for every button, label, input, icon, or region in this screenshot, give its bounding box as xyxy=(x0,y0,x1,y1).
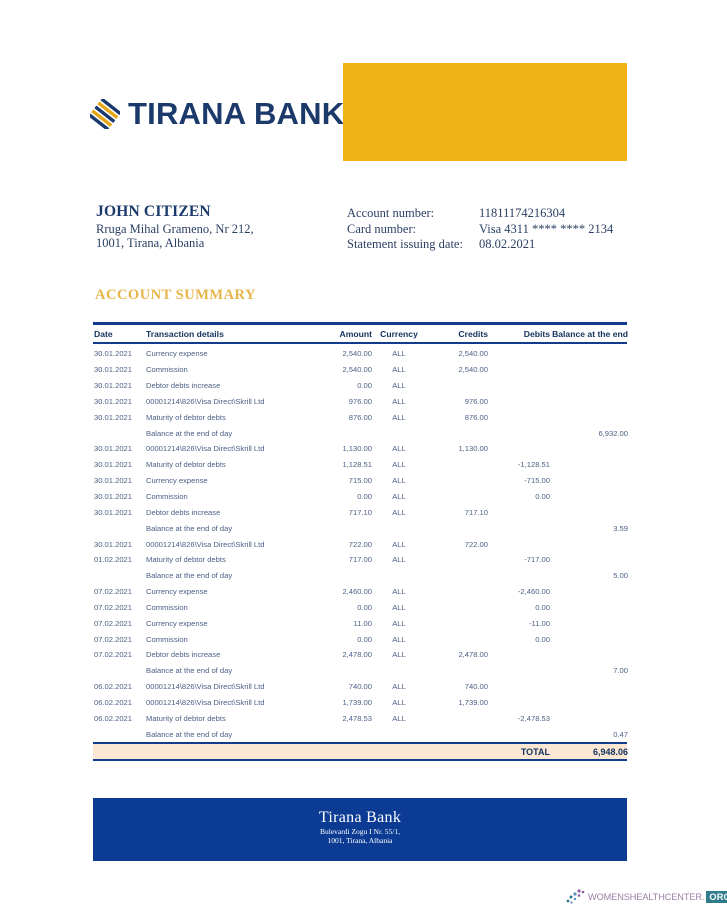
cell-amount: 717.00 xyxy=(304,555,372,564)
cell-details: 00001214\826\Visa Direct\Skrill Ltd xyxy=(146,397,304,406)
cell-date: 30.01.2021 xyxy=(93,476,146,485)
cell-currency: ALL xyxy=(372,714,426,723)
table-row: 30.01.2021Commission2,540.00ALL2,540.00 xyxy=(93,362,627,378)
cell-currency: ALL xyxy=(372,381,426,390)
cell-date: 07.02.2021 xyxy=(93,635,146,644)
cell-details: Currency expense xyxy=(146,619,304,628)
header-currency: Currency xyxy=(372,329,426,339)
card-number-row: Card number: Visa 4311 **** **** 2134 xyxy=(347,222,647,238)
header-gold-banner xyxy=(343,63,627,161)
cell-currency: ALL xyxy=(372,555,426,564)
cell-date: 06.02.2021 xyxy=(93,714,146,723)
cell-date: 07.02.2021 xyxy=(93,650,146,659)
cell-credits: 717.10 xyxy=(426,508,488,517)
cell-currency: ALL xyxy=(372,365,426,374)
header-debits: Debits xyxy=(488,329,550,339)
account-number-row: Account number: 11811174216304 xyxy=(347,206,647,222)
cell-amount: 0.00 xyxy=(304,492,372,501)
cell-currency: ALL xyxy=(372,397,426,406)
header-amount: Amount xyxy=(304,329,372,339)
cell-amount: 11.00 xyxy=(304,619,372,628)
cell-date: 30.01.2021 xyxy=(93,492,146,501)
cell-details: Debtor debts increase xyxy=(146,650,304,659)
table-total-rule-bottom xyxy=(93,759,627,761)
cell-amount: 2,540.00 xyxy=(304,349,372,358)
cell-debits: -11.00 xyxy=(488,619,550,628)
cell-details: Balance at the end of day xyxy=(146,429,304,438)
bank-logo-text: TIRANA BANK xyxy=(128,98,344,129)
cell-details: Commission xyxy=(146,603,304,612)
cell-currency: ALL xyxy=(372,492,426,501)
account-summary-title: ACCOUNT SUMMARY xyxy=(95,287,256,304)
cell-details: Maturity of debtor debts xyxy=(146,714,304,723)
cell-amount: 722.00 xyxy=(304,540,372,549)
customer-address-line-1: Rruga Mihal Grameno, Nr 212, xyxy=(96,222,346,236)
cell-details: Debtor debts increase xyxy=(146,508,304,517)
table-row: 07.02.2021Debtor debts increase2,478.00A… xyxy=(93,647,627,663)
watermark: WOMENSHEALTHCENTER. ORG xyxy=(566,884,721,910)
page-header: TIRANA BANK xyxy=(0,0,727,190)
cell-details: Debtor debts increase xyxy=(146,381,304,390)
table-total-row: TOTAL 6,948.06 xyxy=(93,744,627,759)
account-details-block: Account number: 11811174216304 Card numb… xyxy=(347,206,647,253)
balance-row: Balance at the end of day5.00 xyxy=(93,568,627,584)
customer-address-line-2: 1001, Tirana, Albania xyxy=(96,236,346,250)
cell-credits: 2,478.00 xyxy=(426,650,488,659)
cell-balance: 6,932.00 xyxy=(550,429,628,438)
cell-date: 30.01.2021 xyxy=(93,349,146,358)
cell-debits: 0.00 xyxy=(488,492,550,501)
cell-amount: 2,478.53 xyxy=(304,714,372,723)
statement-page: TIRANA BANK JOHN CITIZEN Rruga Mihal Gra… xyxy=(0,0,727,917)
cell-credits: 2,540.00 xyxy=(426,365,488,374)
cell-details: Maturity of debtor debts xyxy=(146,460,304,469)
cell-debits: 0.00 xyxy=(488,635,550,644)
cell-amount: 1,739.00 xyxy=(304,698,372,707)
cell-date: 30.01.2021 xyxy=(93,460,146,469)
total-label: TOTAL xyxy=(488,747,550,757)
table-row: 30.01.2021Maturity of debtor debts1,128.… xyxy=(93,457,627,473)
table-row: 30.01.2021Debtor debts increase717.10ALL… xyxy=(93,504,627,520)
table-row: 30.01.202100001214\826\Visa Direct\Skril… xyxy=(93,394,627,410)
cell-currency: ALL xyxy=(372,476,426,485)
account-number-value: 11811174216304 xyxy=(479,206,565,222)
cell-amount: 2,460.00 xyxy=(304,587,372,596)
table-row: 07.02.2021Commission0.00ALL0.00 xyxy=(93,600,627,616)
cell-date: 30.01.2021 xyxy=(93,381,146,390)
cell-credits: 976.00 xyxy=(426,397,488,406)
table-row: 30.01.2021Maturity of debtor debts876.00… xyxy=(93,409,627,425)
cell-details: Maturity of debtor debts xyxy=(146,413,304,422)
cell-amount: 2,478.00 xyxy=(304,650,372,659)
total-value: 6,948.06 xyxy=(550,747,628,757)
cell-debits: -2,460.00 xyxy=(488,587,550,596)
cell-details: Currency expense xyxy=(146,349,304,358)
table-row: 07.02.2021Currency expense11.00ALL-11.00 xyxy=(93,615,627,631)
balance-row: Balance at the end of day0.47 xyxy=(93,726,627,742)
cell-date: 06.02.2021 xyxy=(93,698,146,707)
cell-credits: 1,130.00 xyxy=(426,444,488,453)
cell-date: 30.01.2021 xyxy=(93,508,146,517)
table-row: 30.01.2021Debtor debts increase0.00ALL xyxy=(93,378,627,394)
header-balance: Balance at the end xyxy=(550,329,628,339)
table-row: 06.02.2021Maturity of debtor debts2,478.… xyxy=(93,710,627,726)
cell-credits: 1,739.00 xyxy=(426,698,488,707)
cell-credits: 876.00 xyxy=(426,413,488,422)
card-number-value: Visa 4311 **** **** 2134 xyxy=(479,222,613,238)
cell-credits: 740.00 xyxy=(426,682,488,691)
footer-bank-name: Tirana Bank xyxy=(93,798,627,827)
watermark-badge: ORG xyxy=(706,891,727,903)
cell-currency: ALL xyxy=(372,508,426,517)
cell-debits: -717.00 xyxy=(488,555,550,564)
table-row: 07.02.2021Commission0.00ALL0.00 xyxy=(93,631,627,647)
cell-currency: ALL xyxy=(372,349,426,358)
cell-details: 00001214\826\Visa Direct\Skrill Ltd xyxy=(146,444,304,453)
cell-debits: -2,478.53 xyxy=(488,714,550,723)
cell-currency: ALL xyxy=(372,619,426,628)
cell-amount: 976.00 xyxy=(304,397,372,406)
cell-amount: 1,130.00 xyxy=(304,444,372,453)
cell-details: 00001214\826\Visa Direct\Skrill Ltd xyxy=(146,682,304,691)
cell-balance: 5.00 xyxy=(550,571,628,580)
balance-row: Balance at the end of day3.59 xyxy=(93,520,627,536)
customer-address-block: JOHN CITIZEN Rruga Mihal Grameno, Nr 212… xyxy=(96,203,346,250)
table-header-row: Date Transaction details Amount Currency… xyxy=(93,325,627,342)
cell-details: 00001214\826\Visa Direct\Skrill Ltd xyxy=(146,698,304,707)
footer-address-line-2: 1001, Tirana, Albania xyxy=(93,836,627,845)
cell-date: 30.01.2021 xyxy=(93,365,146,374)
cell-amount: 0.00 xyxy=(304,603,372,612)
header-credits: Credits xyxy=(426,329,488,339)
cell-currency: ALL xyxy=(372,540,426,549)
card-number-label: Card number: xyxy=(347,222,479,238)
cell-currency: ALL xyxy=(372,682,426,691)
footer-address-line-1: Bulevardi Zogu I Nr. 55/1, xyxy=(93,827,627,836)
table-row: 30.01.2021Currency expense2,540.00ALL2,5… xyxy=(93,346,627,362)
table-row: 06.02.202100001214\826\Visa Direct\Skril… xyxy=(93,695,627,711)
cell-currency: ALL xyxy=(372,413,426,422)
bank-logo: TIRANA BANK xyxy=(90,98,344,129)
header-date: Date xyxy=(93,329,146,339)
balance-row: Balance at the end of day6,932.00 xyxy=(93,425,627,441)
cell-details: Commission xyxy=(146,492,304,501)
watermark-dots-icon xyxy=(566,888,588,906)
cell-details: Currency expense xyxy=(146,587,304,596)
page-footer: Tirana Bank Bulevardi Zogu I Nr. 55/1, 1… xyxy=(93,798,627,861)
cell-currency: ALL xyxy=(372,650,426,659)
cell-date: 30.01.2021 xyxy=(93,444,146,453)
cell-amount: 0.00 xyxy=(304,381,372,390)
cell-currency: ALL xyxy=(372,460,426,469)
table-body: 30.01.2021Currency expense2,540.00ALL2,5… xyxy=(93,344,627,742)
cell-currency: ALL xyxy=(372,635,426,644)
cell-balance: 3.59 xyxy=(550,524,628,533)
cell-amount: 876.00 xyxy=(304,413,372,422)
cell-details: Commission xyxy=(146,365,304,374)
cell-date: 30.01.2021 xyxy=(93,397,146,406)
cell-details: Balance at the end of day xyxy=(146,666,304,675)
table-row: 01.02.2021Maturity of debtor debts717.00… xyxy=(93,552,627,568)
cell-debits: 0.00 xyxy=(488,603,550,612)
cell-currency: ALL xyxy=(372,698,426,707)
cell-date: 07.02.2021 xyxy=(93,587,146,596)
cell-details: Balance at the end of day xyxy=(146,524,304,533)
transactions-table: Date Transaction details Amount Currency… xyxy=(93,322,627,761)
watermark-text: WOMENSHEALTHCENTER. xyxy=(588,892,704,902)
cell-details: Currency expense xyxy=(146,476,304,485)
cell-details: Maturity of debtor debts xyxy=(146,555,304,564)
cell-currency: ALL xyxy=(372,444,426,453)
cell-amount: 0.00 xyxy=(304,635,372,644)
cell-date: 30.01.2021 xyxy=(93,540,146,549)
issuing-date-label: Statement issuing date: xyxy=(347,237,479,253)
cell-details: Balance at the end of day xyxy=(146,571,304,580)
issuing-date-value: 08.02.2021 xyxy=(479,237,535,253)
cell-credits: 722.00 xyxy=(426,540,488,549)
cell-amount: 740.00 xyxy=(304,682,372,691)
cell-date: 06.02.2021 xyxy=(93,682,146,691)
issuing-date-row: Statement issuing date: 08.02.2021 xyxy=(347,237,647,253)
cell-details: Balance at the end of day xyxy=(146,730,304,739)
table-row: 30.01.202100001214\826\Visa Direct\Skril… xyxy=(93,536,627,552)
cell-currency: ALL xyxy=(372,603,426,612)
table-row: 30.01.2021Commission0.00ALL0.00 xyxy=(93,489,627,505)
table-row: 07.02.2021Currency expense2,460.00ALL-2,… xyxy=(93,584,627,600)
cell-amount: 2,540.00 xyxy=(304,365,372,374)
cell-credits: 2,540.00 xyxy=(426,349,488,358)
cell-date: 07.02.2021 xyxy=(93,603,146,612)
cell-date: 07.02.2021 xyxy=(93,619,146,628)
cell-details: 00001214\826\Visa Direct\Skrill Ltd xyxy=(146,540,304,549)
cell-currency: ALL xyxy=(372,587,426,596)
balance-row: Balance at the end of day7.00 xyxy=(93,663,627,679)
statement-info: JOHN CITIZEN Rruga Mihal Grameno, Nr 212… xyxy=(0,203,727,273)
cell-amount: 717.10 xyxy=(304,508,372,517)
cell-details: Commission xyxy=(146,635,304,644)
table-row: 06.02.202100001214\826\Visa Direct\Skril… xyxy=(93,679,627,695)
table-row: 30.01.202100001214\826\Visa Direct\Skril… xyxy=(93,441,627,457)
cell-debits: -1,128.51 xyxy=(488,460,550,469)
tirana-bank-stripes-icon xyxy=(90,99,120,129)
account-number-label: Account number: xyxy=(347,206,479,222)
customer-name: JOHN CITIZEN xyxy=(96,203,346,220)
table-row: 30.01.2021Currency expense715.00ALL-715.… xyxy=(93,473,627,489)
cell-amount: 1,128.51 xyxy=(304,460,372,469)
cell-date: 30.01.2021 xyxy=(93,413,146,422)
cell-amount: 715.00 xyxy=(304,476,372,485)
cell-balance: 0.47 xyxy=(550,730,628,739)
cell-balance: 7.00 xyxy=(550,666,628,675)
cell-debits: -715.00 xyxy=(488,476,550,485)
cell-date: 01.02.2021 xyxy=(93,555,146,564)
header-details: Transaction details xyxy=(146,329,304,339)
